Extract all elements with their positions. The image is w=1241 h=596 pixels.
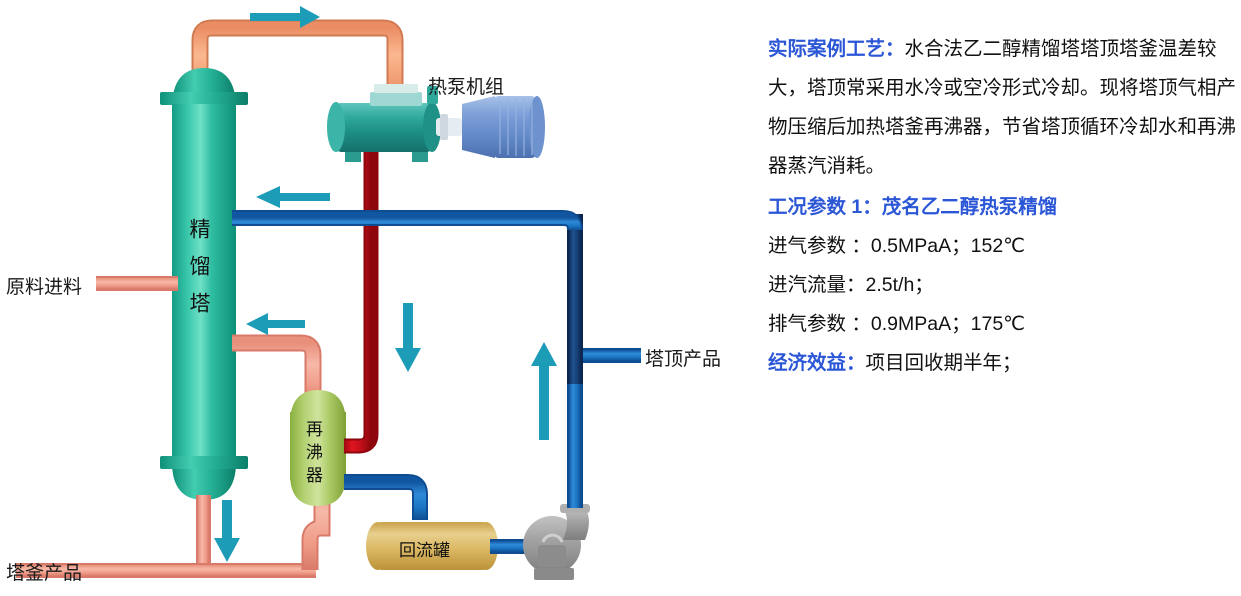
flow-arrow-riser-up [531,342,557,440]
pipe-pump-discharge-riser [567,380,583,508]
label-heat-pump-unit: 热泵机组 [428,72,504,99]
flow-arrow-compressor-down [395,303,421,372]
operating-parameters-section: 工况参数 1：茂名乙二醇热泵精馏 进气参数 ：0.5MPaA；152℃ 进汽流量… [768,188,1238,383]
description-panel: 实际案例工艺：水合法乙二醇精馏塔塔顶塔釜温差较大，塔顶常采用水冷或空冷形式冷却。… [768,30,1238,383]
parameter-row-steam-flow: 进汽流量：2.5t/h； [768,266,1238,305]
label-distillation-column: 精馏塔 [183,218,213,329]
pipe-compressor-discharge-to-reboiler [344,150,371,446]
flow-arrow-reflux-left [256,186,330,208]
label-reboiler: 再沸器 [300,420,325,489]
economic-benefit-heading: 经济效益： [768,352,866,374]
label-feed-inlet: 原料进料 [6,272,82,299]
flow-arrow-reboiler-return-left [246,313,305,335]
process-description-paragraph: 实际案例工艺：水合法乙二醇精馏塔塔顶塔釜温差较大，塔顶常采用水冷或空冷形式冷却。… [768,30,1238,186]
reflux-pump [523,504,590,580]
parameter-row-inlet-gas: 进气参数 ：0.5MPaA；152℃ [768,227,1238,266]
pipe-reboiler-condensate-to-drum [344,482,420,520]
pipe-top-product-takeoff [583,348,641,363]
label-bottom-product: 塔釜产品 [6,558,82,585]
label-reflux-drum: 回流罐 [399,536,450,561]
process-flow-diagram: 热泵机组 精馏塔 再沸器 回流罐 原料进料 塔顶产品 塔釜产品 [0,0,760,596]
pipe-feed-inlet [96,276,178,291]
flow-arrow-column-bottom-down [214,500,240,562]
economic-benefit-text: 项目回收期半年； [866,352,1022,374]
economic-benefit-row: 经济效益：项目回收期半年； [768,344,1238,383]
parameter-row-discharge-gas: 排气参数 ：0.9MPaA；175℃ [768,305,1238,344]
operating-parameters-heading: 工况参数 1：茂名乙二醇热泵精馏 [768,188,1238,227]
label-top-product: 塔顶产品 [645,344,721,371]
process-description-heading: 实际案例工艺： [768,38,905,60]
process-diagram-page: 热泵机组 精馏塔 再沸器 回流罐 原料进料 塔顶产品 塔釜产品 实际案例工艺：水… [0,0,1241,596]
